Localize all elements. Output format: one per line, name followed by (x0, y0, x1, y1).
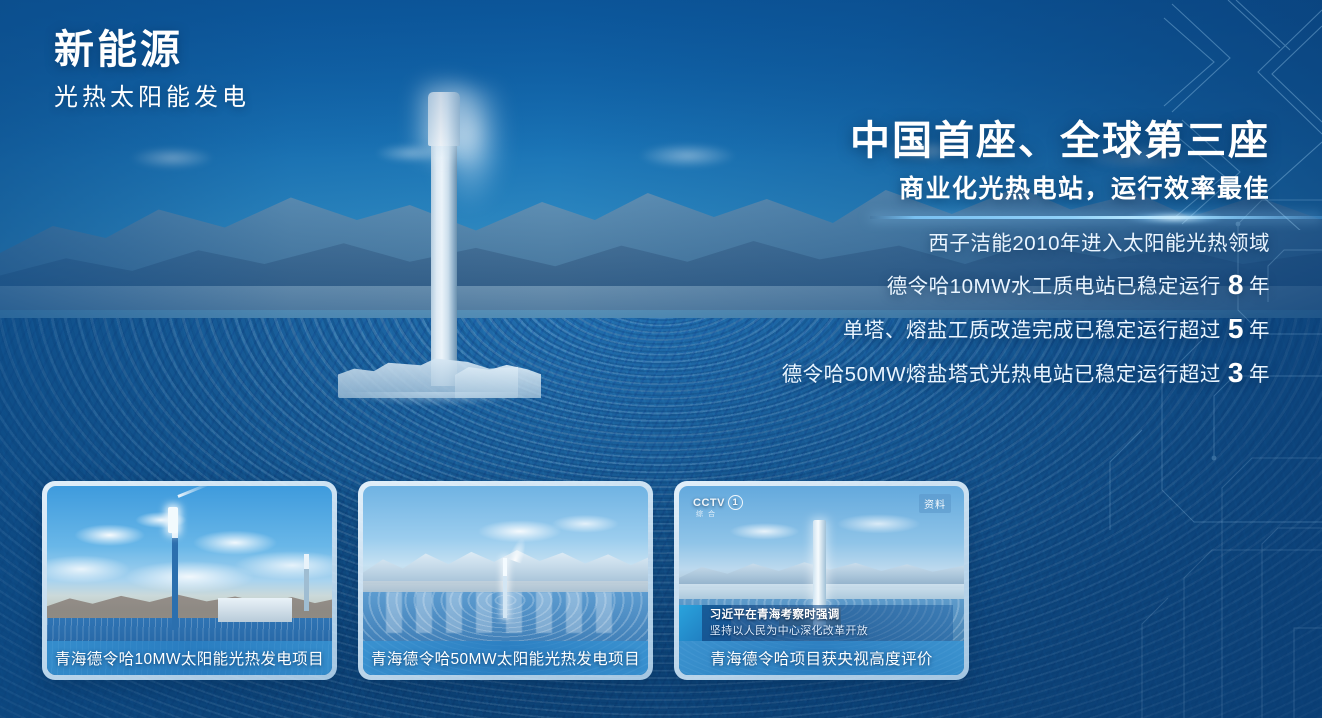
circuit-decoration-bottom-icon (922, 418, 1322, 718)
cctv-channel-number: 1 (728, 495, 743, 510)
news-headline: 习近平在青海考察时强调 (710, 608, 945, 624)
project-card-media: 青海德令哈10MW太阳能光热发电项目 (47, 486, 332, 675)
fact-suffix: 年 (1249, 363, 1270, 386)
project-card[interactable]: 青海德令哈50MW太阳能光热发电项目 (358, 481, 653, 680)
project-card-caption: 青海德令哈项目获央视高度评价 (679, 641, 964, 675)
fact-item: 德令哈50MW熔盐塔式光热电站已稳定运行超过3年 (610, 359, 1270, 387)
cctv-logo-icon: CCTV 1 (693, 495, 743, 510)
photo2-tower (503, 558, 507, 618)
fact-prefix: 德令哈10MW水工质电站已稳定运行 (887, 275, 1221, 298)
project-card-list: 青海德令哈10MW太阳能光热发电项目 青海德令哈50MW太阳能光热发电项目 (42, 481, 969, 680)
fact-list: 西子洁能2010年进入太阳能光热领域 德令哈10MW水工质电站已稳定运行8年 单… (610, 234, 1270, 387)
fact-item: 德令哈10MW水工质电站已稳定运行8年 (610, 271, 1270, 299)
news-ticker: 习近平在青海考察时强调 坚持以人民为中心深化改革开放 (702, 605, 953, 641)
headline-divider (870, 216, 1322, 219)
title-block: 新能源 光热太阳能发电 (54, 28, 250, 113)
project-card-caption: 青海德令哈10MW太阳能光热发电项目 (47, 641, 332, 675)
cctv-channel-label: 综合 (696, 509, 720, 519)
project-card[interactable]: CCTV 1 综合 资料 习近平在青海考察时强调 坚持以人民为中心深化改革开放 … (674, 481, 969, 680)
headline-divider-glow (1110, 210, 1240, 226)
fact-item: 单塔、熔盐工质改造完成已稳定运行超过5年 (610, 315, 1270, 343)
page-subtitle: 光热太阳能发电 (54, 84, 250, 113)
headline-block: 中国首座、全球第三座 商业化光热电站，运行效率最佳 (650, 118, 1270, 204)
photo1-second-tower (304, 554, 309, 611)
news-subheadline: 坚持以人民为中心深化改革开放 (710, 624, 945, 639)
project-card-caption: 青海德令哈50MW太阳能光热发电项目 (363, 641, 648, 675)
fact-prefix: 德令哈50MW熔盐塔式光热电站已稳定运行超过 (782, 363, 1221, 386)
project-card-media: CCTV 1 综合 资料 习近平在青海考察时强调 坚持以人民为中心深化改革开放 … (679, 486, 964, 675)
photo1-light-beam (178, 486, 211, 498)
headline-secondary: 商业化光热电站，运行效率最佳 (650, 174, 1270, 204)
archive-tag: 资料 (919, 494, 951, 513)
headline-primary: 中国首座、全球第三座 (650, 118, 1270, 164)
fact-number: 5 (1221, 313, 1249, 344)
project-card-media: 青海德令哈50MW太阳能光热发电项目 (363, 486, 648, 675)
fact-suffix: 年 (1249, 275, 1270, 298)
fact-text: 西子洁能2010年进入太阳能光热领域 (928, 232, 1270, 255)
fact-item: 西子洁能2010年进入太阳能光热领域 (610, 234, 1270, 255)
slide-root: 新能源 光热太阳能发电 中国首座、全球第三座 商业化光热电站，运行效率最佳 西子… (0, 0, 1322, 718)
fact-suffix: 年 (1249, 319, 1270, 342)
fact-number: 8 (1221, 269, 1249, 300)
fact-number: 3 (1221, 357, 1249, 388)
page-title: 新能源 (54, 28, 250, 72)
photo1-tower-receiver (168, 507, 178, 533)
photo1-plant-building (218, 598, 292, 623)
cctv-logo-text: CCTV (693, 497, 725, 509)
project-card[interactable]: 青海德令哈10MW太阳能光热发电项目 (42, 481, 337, 680)
fact-prefix: 单塔、熔盐工质改造完成已稳定运行超过 (843, 319, 1221, 342)
